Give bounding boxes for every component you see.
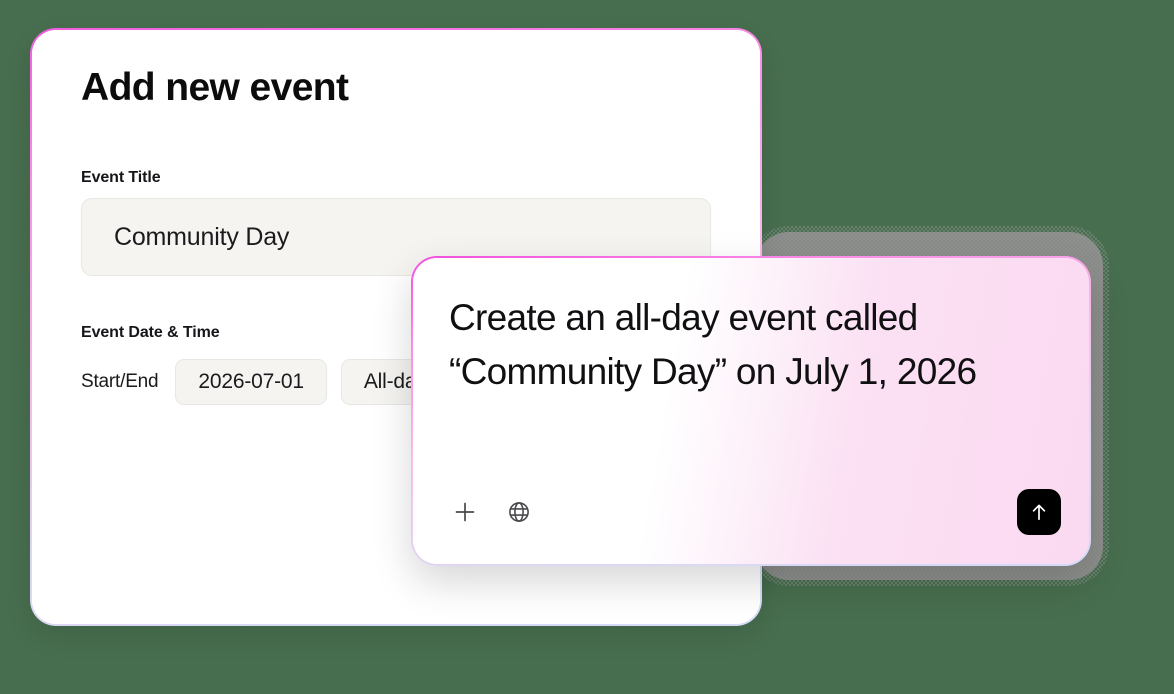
prompt-card: Create an all-day event called “Communit… xyxy=(411,256,1091,566)
event-date-chip[interactable]: 2026-07-01 xyxy=(175,359,326,405)
event-datetime-row: Start/End 2026-07-01 All-day xyxy=(81,359,450,405)
globe-icon[interactable] xyxy=(503,496,535,528)
prompt-card-body: Create an all-day event called “Communit… xyxy=(413,258,1089,564)
prompt-text[interactable]: Create an all-day event called “Communit… xyxy=(449,291,1049,399)
arrow-up-icon xyxy=(1028,501,1050,523)
page-title: Add new event xyxy=(81,66,348,110)
screen: Add new event Event Title Community Day … xyxy=(0,0,1174,694)
event-title-value: Community Day xyxy=(114,223,289,252)
prompt-toolbar xyxy=(449,488,1061,536)
start-end-label: Start/End xyxy=(81,371,161,393)
event-title-label: Event Title xyxy=(81,169,161,187)
send-button[interactable] xyxy=(1017,489,1061,535)
event-datetime-label: Event Date & Time xyxy=(81,324,220,342)
plus-icon[interactable] xyxy=(449,496,481,528)
